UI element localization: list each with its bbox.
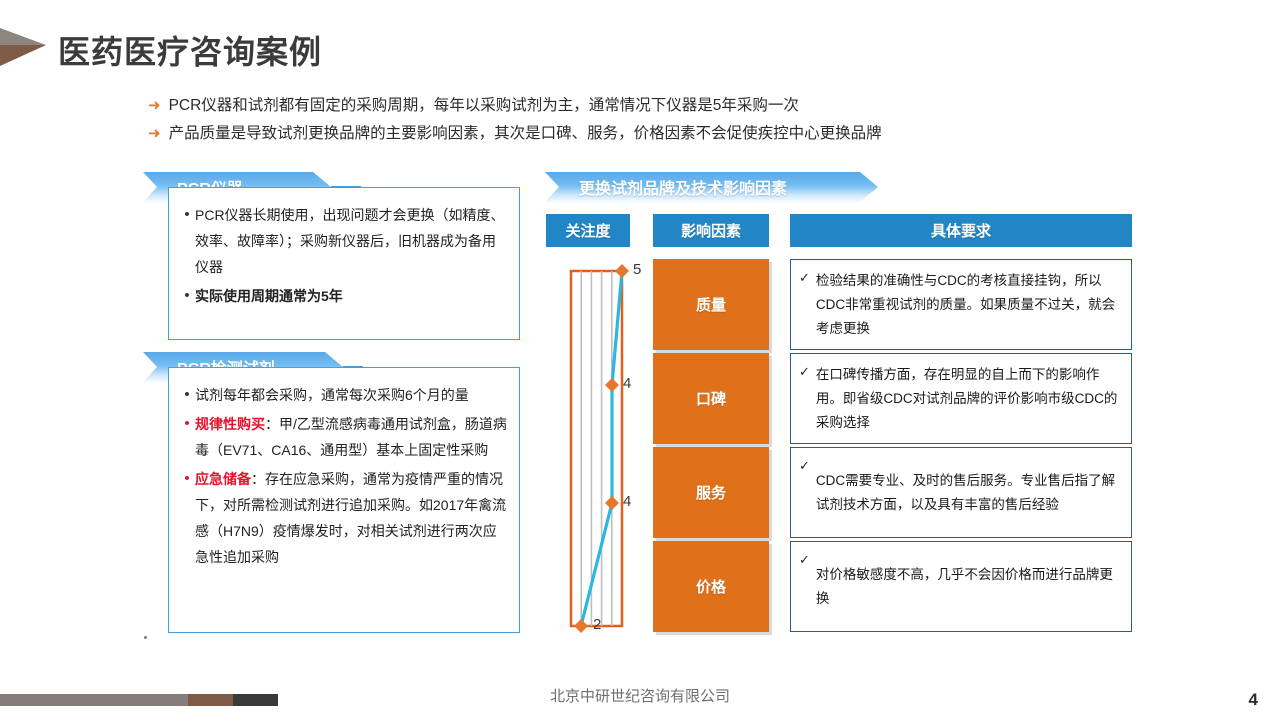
factor-label: 质量 [696, 294, 726, 315]
stray-dot [144, 636, 147, 639]
panel-item-text: 试剂每年都会采购，通常每次采购6个月的量 [195, 382, 469, 408]
list-item: ➜ PCR仪器和试剂都有固定的采购周期，每年以采购试剂为主，通常情况下仪器是5年… [148, 96, 1148, 116]
factor-box-reputation: 口碑 [653, 353, 769, 444]
table-header-requirement: 具体要求 [790, 214, 1132, 247]
panel-item-highlight: 规律性购买 [195, 416, 265, 432]
list-item: • PCR仪器长期使用，出现问题才会更换（如精度、效率、故障率）；采购新仪器后，… [179, 202, 507, 280]
factor-box-service: 服务 [653, 447, 769, 538]
requirement-text: 对价格敏感度不高，几乎不会因价格而进行品牌更换 [816, 563, 1121, 611]
panel-item-text: 应急储备：存在应急采购，通常为疫情严重的情况下，对所需检测试剂进行追加采购。如2… [195, 466, 507, 570]
list-item: • 试剂每年都会采购，通常每次采购6个月的量 [179, 382, 507, 408]
check-icon: ✓ [799, 360, 810, 384]
panel-item-text: 规律性购买：甲/乙型流感病毒通用试剂盒，肠道病毒（EV71、CA16、通用型）基… [195, 411, 507, 463]
requirement-text: 检验结果的准确性与CDC的考核直接挂钩，所以CDC非常重视试剂的质量。如果质量不… [816, 269, 1121, 341]
check-icon: ✓ [799, 548, 810, 572]
ribbon-header-influence-factors: 更换试剂品牌及技术影响因素 [545, 172, 878, 202]
list-item: • 应急储备：存在应急采购，通常为疫情严重的情况下，对所需检测试剂进行追加采购。… [179, 466, 507, 570]
chart-label-price: 2 [593, 616, 601, 633]
requirement-box-quality: ✓ 检验结果的准确性与CDC的考核直接挂钩，所以CDC非常重视试剂的质量。如果质… [790, 259, 1132, 350]
page-number: 4 [1249, 690, 1258, 710]
bullet-text: PCR仪器和试剂都有固定的采购周期，每年以采购试剂为主，通常情况下仪器是5年采购… [169, 96, 799, 116]
panel-item-text: 实际使用周期通常为5年 [195, 283, 343, 309]
arrow-bullet-icon: ➜ [148, 96, 161, 116]
footer-company-name: 北京中研世纪咨询有限公司 [0, 685, 1280, 706]
table-header-label: 具体要求 [931, 220, 991, 241]
table-header-attention: 关注度 [546, 214, 630, 247]
bullet-dot-icon: • [179, 411, 195, 437]
panel-item-bold-text: 实际使用周期通常为5年 [195, 288, 343, 304]
bullet-dot-icon: • [179, 283, 195, 309]
check-icon: ✓ [799, 454, 810, 478]
factor-box-price: 价格 [653, 541, 769, 632]
table-header-label: 关注度 [565, 220, 610, 241]
list-item: • 规律性购买：甲/乙型流感病毒通用试剂盒，肠道病毒（EV71、CA16、通用型… [179, 411, 507, 463]
table-header-label: 影响因素 [681, 220, 741, 241]
bullet-dot-icon: • [179, 382, 195, 408]
arrow-bullet-icon: ➜ [148, 124, 161, 144]
top-bullet-list: ➜ PCR仪器和试剂都有固定的采购周期，每年以采购试剂为主，通常情况下仪器是5年… [148, 96, 1148, 152]
list-item: • 实际使用周期通常为5年 [179, 283, 507, 309]
factor-label: 口碑 [696, 388, 726, 409]
page-title: 医药医疗咨询案例 [58, 27, 322, 73]
slide-root: 医药医疗咨询案例 ➜ PCR仪器和试剂都有固定的采购周期，每年以采购试剂为主，通… [0, 0, 1280, 720]
panel-pcr-instrument: • PCR仪器长期使用，出现问题才会更换（如精度、效率、故障率）；采购新仪器后，… [168, 187, 520, 340]
factor-box-quality: 质量 [653, 259, 769, 350]
requirement-box-service: ✓ CDC需要专业、及时的售后服务。专业售后指了解试剂技术方面，以及具有丰富的售… [790, 447, 1132, 538]
panel-pcr-reagent: • 试剂每年都会采购，通常每次采购6个月的量 • 规律性购买：甲/乙型流感病毒通… [168, 367, 520, 633]
factor-label: 服务 [696, 482, 726, 503]
attention-line-chart [540, 255, 650, 640]
chart-label-service: 4 [623, 493, 631, 510]
chart-label-quality: 5 [633, 261, 641, 278]
chart-label-reputation: 4 [623, 375, 631, 392]
check-icon: ✓ [799, 266, 810, 290]
panel-item-text: PCR仪器长期使用，出现问题才会更换（如精度、效率、故障率）；采购新仪器后，旧机… [195, 202, 507, 280]
factor-label: 价格 [696, 576, 726, 597]
requirement-text: 在口碑传播方面，存在明显的自上而下的影响作用。即省级CDC对试剂品牌的评价影响市… [816, 363, 1121, 435]
requirement-box-price: ✓ 对价格敏感度不高，几乎不会因价格而进行品牌更换 [790, 541, 1132, 632]
requirement-box-reputation: ✓ 在口碑传播方面，存在明显的自上而下的影响作用。即省级CDC对试剂品牌的评价影… [790, 353, 1132, 444]
table-header-factor: 影响因素 [653, 214, 769, 247]
bullet-dot-icon: • [179, 202, 195, 228]
list-item: ➜ 产品质量是导致试剂更换品牌的主要影响因素，其次是口碑、服务，价格因素不会促使… [148, 124, 1148, 144]
ribbon-label: 更换试剂品牌及技术影响因素 [579, 175, 787, 199]
panel-item-highlight: 应急储备 [195, 471, 251, 487]
requirement-text: CDC需要专业、及时的售后服务。专业售后指了解试剂技术方面，以及具有丰富的售后经… [816, 469, 1121, 517]
bullet-text: 产品质量是导致试剂更换品牌的主要影响因素，其次是口碑、服务，价格因素不会促使疾控… [169, 124, 882, 144]
title-arrow-icon [0, 28, 56, 72]
bullet-dot-icon: • [179, 466, 195, 492]
